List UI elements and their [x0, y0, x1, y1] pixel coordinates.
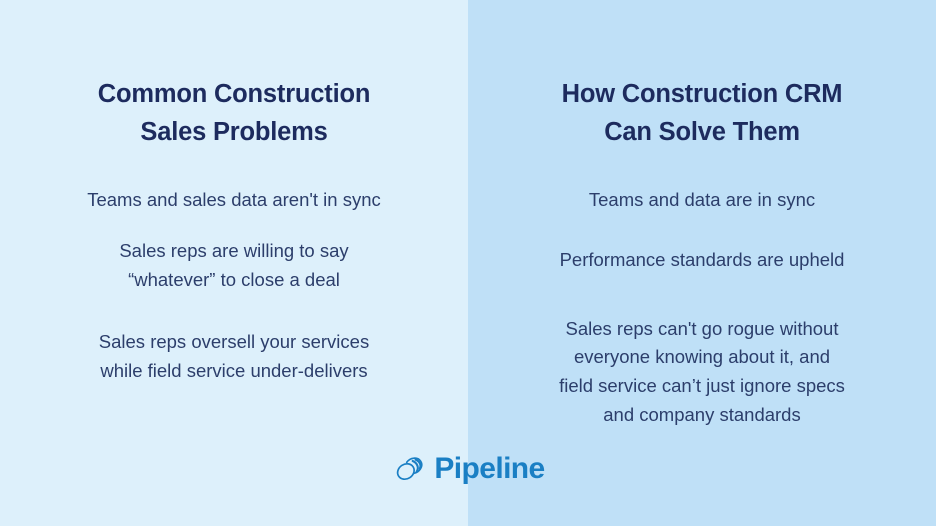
problems-item-3: Sales reps oversell your services while …	[18, 328, 450, 385]
pipeline-wordmark: Pipeline	[434, 454, 544, 484]
problems-content: Common Construction Sales Problems Teams…	[0, 0, 468, 386]
solutions-content: How Construction CRM Can Solve Them Team…	[468, 0, 936, 430]
problems-heading: Common Construction Sales Problems	[18, 76, 450, 151]
solutions-item-1: Teams and data are in sync	[486, 186, 918, 215]
solutions-item-2: Performance standards are upheld	[486, 246, 918, 275]
pipeline-swirl-icon	[391, 452, 425, 486]
problems-item-2: Sales reps are willing to say “whatever”…	[18, 237, 450, 294]
problems-item-1: Teams and sales data aren't in sync	[18, 186, 450, 215]
solutions-panel: How Construction CRM Can Solve Them Team…	[468, 0, 936, 526]
pipeline-logo[interactable]: Pipeline	[391, 452, 544, 486]
solutions-item-3: Sales reps can't go rogue without everyo…	[486, 315, 918, 430]
solutions-heading: How Construction CRM Can Solve Them	[486, 76, 918, 151]
comparison-graphic: Common Construction Sales Problems Teams…	[0, 0, 936, 526]
problems-panel: Common Construction Sales Problems Teams…	[0, 0, 468, 526]
